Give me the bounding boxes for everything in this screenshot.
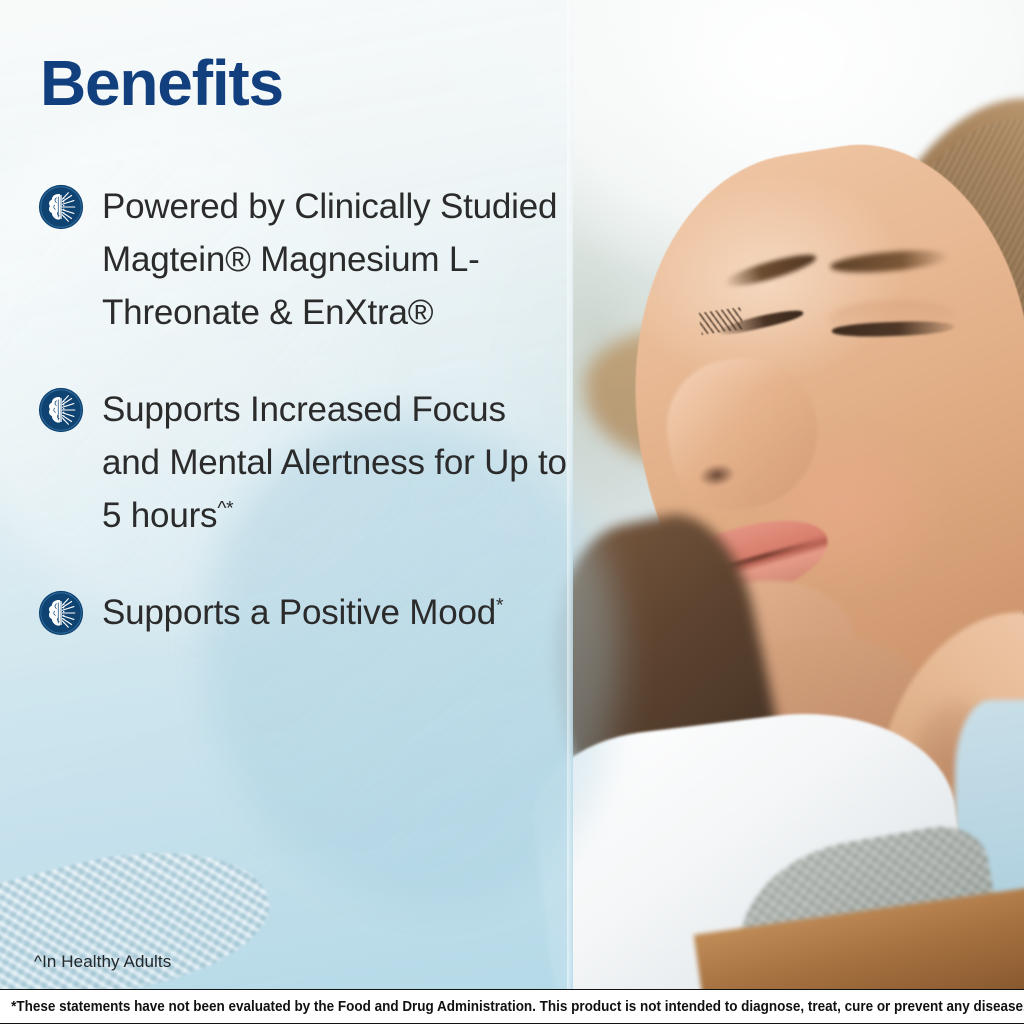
brain-icon (38, 387, 84, 433)
brain-icon (38, 184, 84, 230)
panel-content: Benefits (0, 0, 573, 989)
fda-disclaimer-text: *These statements have not been evaluate… (0, 999, 1024, 1015)
list-item: Supports Increased Focus and Mental Aler… (38, 383, 573, 542)
fda-disclaimer-bar: *These statements have not been evaluate… (0, 989, 1024, 1024)
footnote: ^In Healthy Adults (34, 952, 171, 972)
benefit-text: Supports a Positive Mood* (102, 586, 503, 639)
list-item: Supports a Positive Mood* (38, 586, 573, 639)
benefit-text-main: Supports a Positive Mood (102, 593, 496, 632)
brain-icon (38, 590, 84, 636)
benefit-superscript: * (496, 595, 503, 616)
benefit-text-main: Supports Increased Focus and Mental Aler… (102, 390, 567, 535)
benefit-superscript: ^* (217, 498, 233, 519)
list-item: Powered by Clinically Studied Magtein® M… (38, 180, 573, 339)
benefits-list: Powered by Clinically Studied Magtein® M… (38, 180, 573, 683)
benefit-text: Supports Increased Focus and Mental Aler… (102, 383, 572, 542)
benefit-text: Powered by Clinically Studied Magtein® M… (102, 180, 572, 339)
page-title: Benefits (40, 46, 283, 120)
product-benefits-image: Benefits (0, 0, 1024, 1024)
